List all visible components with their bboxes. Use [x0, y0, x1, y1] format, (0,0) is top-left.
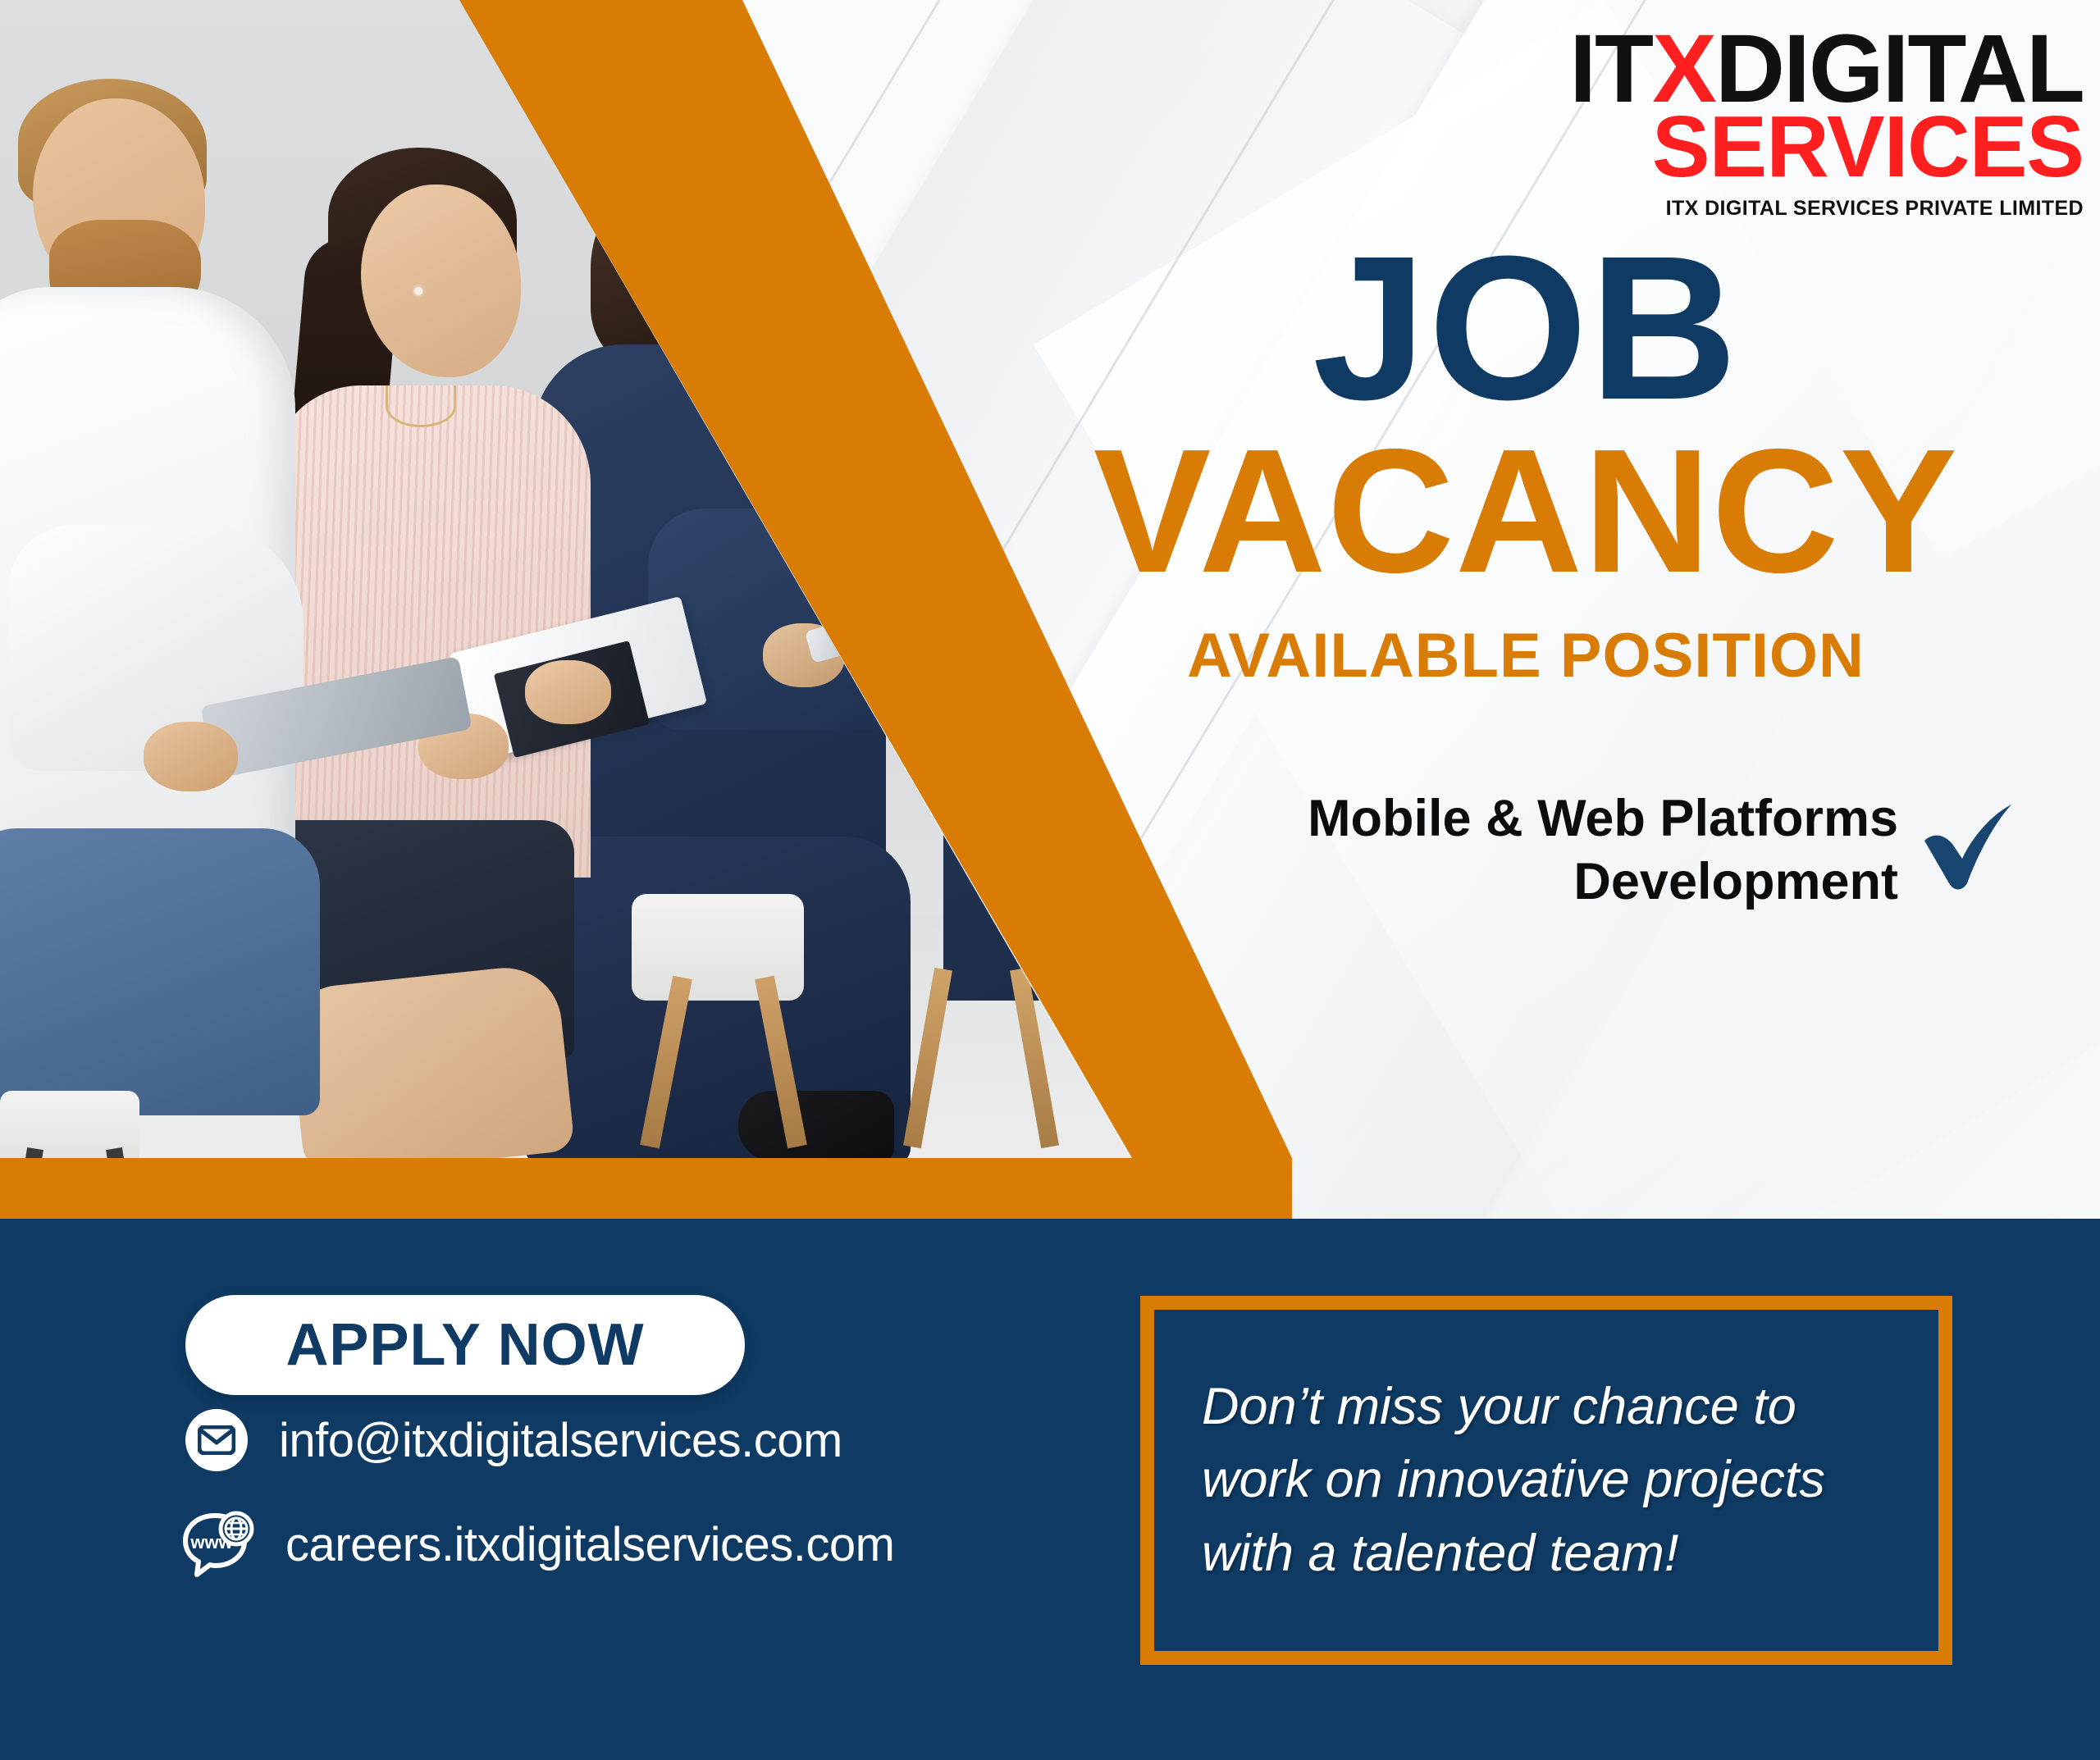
role-title-line2: Development [1308, 850, 1898, 914]
photo-person2-hand-right [525, 660, 611, 724]
headline-group: JOB VACANCY AVAILABLE POSITION [968, 238, 2084, 691]
photo-person1-hand [144, 722, 238, 791]
role-title: Mobile & Web Platforms Development [1308, 787, 1898, 914]
company-logo: ITXDIGITAL SERVICES ITX DIGITAL SERVICES… [1509, 25, 2084, 221]
contact-email-row[interactable]: info@itxdigitalservices.com [185, 1409, 842, 1471]
logo-it-text: IT [1569, 15, 1652, 123]
apply-now-label: APPLY NOW [285, 1311, 644, 1379]
checkmark-icon [1920, 801, 2018, 900]
photo-person2-earring [414, 287, 422, 295]
contact-website-row[interactable]: www careers.itxdigitalservices.com [179, 1509, 894, 1580]
role-title-line1: Mobile & Web Platforms [1308, 787, 1898, 850]
tagline-box: Don’t miss your chance to work on innova… [1140, 1296, 1952, 1665]
photo-person1-jeans [0, 828, 320, 1115]
contact-email-value: info@itxdigitalservices.com [279, 1413, 842, 1468]
photo-person2-necklace [386, 385, 456, 427]
website-www-icon: www [179, 1509, 254, 1580]
photo-person2-legs [286, 962, 575, 1160]
photo-person3-shoe [738, 1091, 894, 1160]
tagline-text: Don’t miss your chance to work on innova… [1154, 1370, 1938, 1590]
job-vacancy-poster: ITXDIGITAL SERVICES ITX DIGITAL SERVICES… [0, 0, 2100, 1760]
contact-website-value: careers.itxdigitalservices.com [285, 1517, 894, 1572]
headline-vacancy: VACANCY [968, 430, 2084, 592]
role-group: Mobile & Web Platforms Development [1148, 787, 2018, 914]
headline-job: JOB [968, 238, 2084, 418]
photo-person2-chair [632, 894, 804, 1001]
headline-available-position: AVAILABLE POSITION [968, 620, 2084, 691]
apply-now-button[interactable]: APPLY NOW [185, 1295, 745, 1395]
email-icon [185, 1409, 248, 1471]
poster-top-section: ITXDIGITAL SERVICES ITX DIGITAL SERVICES… [0, 0, 2100, 1222]
